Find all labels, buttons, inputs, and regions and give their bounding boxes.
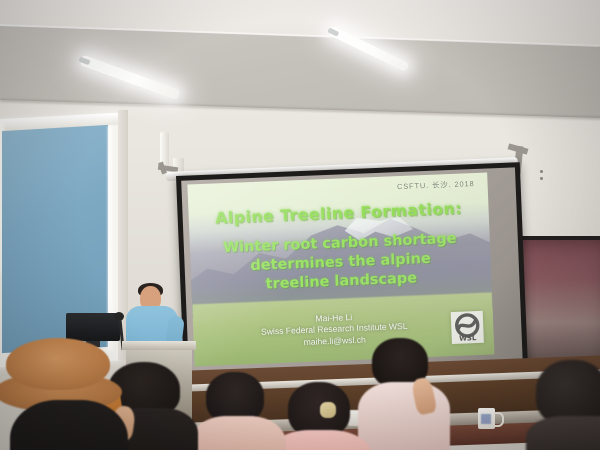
projected-slide: CSFTU. 长沙. 2018 Alpine Treeline Formatio… <box>187 173 494 367</box>
wall-anchor-screws <box>540 170 543 173</box>
wsl-logo: WSL <box>451 311 484 344</box>
wsl-logo-text: WSL <box>459 334 477 343</box>
audience-shoulders <box>10 400 128 450</box>
podium-top-surface <box>122 341 196 350</box>
audience-shoulders <box>190 416 286 450</box>
hair-clip <box>320 402 336 418</box>
lecture-hall-photo: CSFTU. 长沙. 2018 Alpine Treeline Formatio… <box>0 0 600 450</box>
projection-screen: CSFTU. 长沙. 2018 Alpine Treeline Formatio… <box>176 162 528 392</box>
slide-title: Alpine Treeline Formation: <box>188 198 488 228</box>
slide-subtitle: Winter root carbon shortage determines t… <box>190 228 492 297</box>
mug-pattern <box>481 414 491 424</box>
podium-monitor <box>66 313 120 341</box>
audience-shoulders <box>526 416 600 450</box>
bucket-hat <box>6 338 110 390</box>
tube-end-cap <box>78 57 90 65</box>
screen-surface: CSFTU. 长沙. 2018 Alpine Treeline Formatio… <box>181 167 523 386</box>
audience-shoulders <box>358 382 450 450</box>
slide-header-conference: CSFTU. 长沙. 2018 <box>397 178 475 192</box>
microphone-head <box>114 312 124 321</box>
mug-handle <box>494 412 504 427</box>
